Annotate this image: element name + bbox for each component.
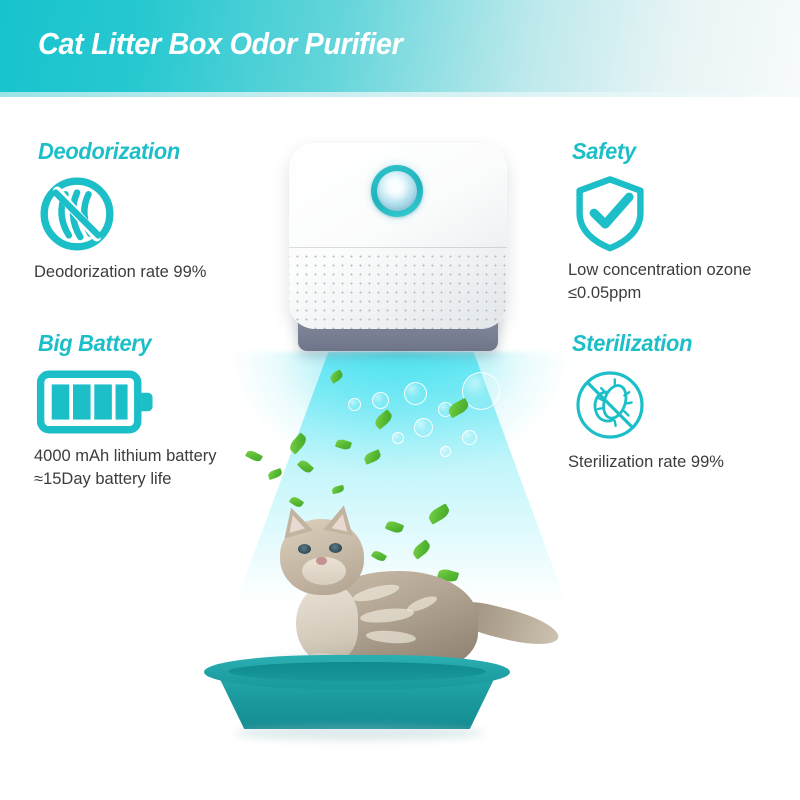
page-title: Cat Litter Box Odor Purifier — [38, 26, 402, 62]
odor-purifier-device — [289, 143, 507, 355]
bubble — [440, 446, 451, 457]
device-seam — [289, 247, 507, 248]
air-vent-grill — [289, 249, 507, 329]
feature-safety: Safety Low concentration ozone ≤0.05ppm — [566, 138, 800, 306]
litter-tray — [204, 655, 510, 733]
feature-text: Deodorization rate 99% — [34, 261, 297, 284]
bubble — [414, 418, 433, 437]
feature-big-battery: Big Battery 4000 mAh lithium battery ≈15… — [32, 330, 297, 492]
bubble — [372, 392, 389, 409]
cat-eye-left — [298, 544, 311, 554]
bubble — [348, 398, 361, 411]
cat-nose — [316, 557, 327, 565]
cat-chest — [296, 585, 358, 663]
feature-text: Low concentration ozone ≤0.05ppm — [568, 259, 800, 306]
feature-title: Sterilization — [572, 330, 800, 357]
battery-full-icon — [36, 365, 156, 439]
product-infographic: Cat Litter Box Odor Purifier — [0, 0, 800, 800]
cat-litter-scene — [196, 505, 608, 775]
bubble — [404, 382, 427, 405]
header-divider — [0, 92, 800, 97]
tray-shadow — [234, 725, 484, 741]
feature-title: Deodorization — [38, 138, 284, 165]
feature-title: Safety — [572, 138, 800, 165]
bubble — [392, 432, 404, 444]
tray-interior — [228, 662, 486, 681]
no-bacteria-icon — [570, 365, 650, 445]
cat-eye-right — [329, 543, 342, 553]
feature-text: 4000 mAh lithium battery ≈15Day battery … — [34, 445, 297, 492]
bubble — [462, 430, 477, 445]
cat-ear-inner-right — [332, 513, 351, 532]
odor-block-icon — [36, 173, 118, 255]
power-button-glow — [384, 176, 410, 202]
feature-sterilization: Sterilization Sterilization rate 99% — [566, 330, 800, 474]
feature-deodorization: Deodorization Deodorization rate 99% — [32, 138, 297, 284]
header-banner: Cat Litter Box Odor Purifier — [0, 0, 800, 92]
shield-check-icon — [570, 173, 650, 253]
feature-text: Sterilization rate 99% — [568, 451, 800, 474]
feature-title: Big Battery — [38, 330, 284, 357]
